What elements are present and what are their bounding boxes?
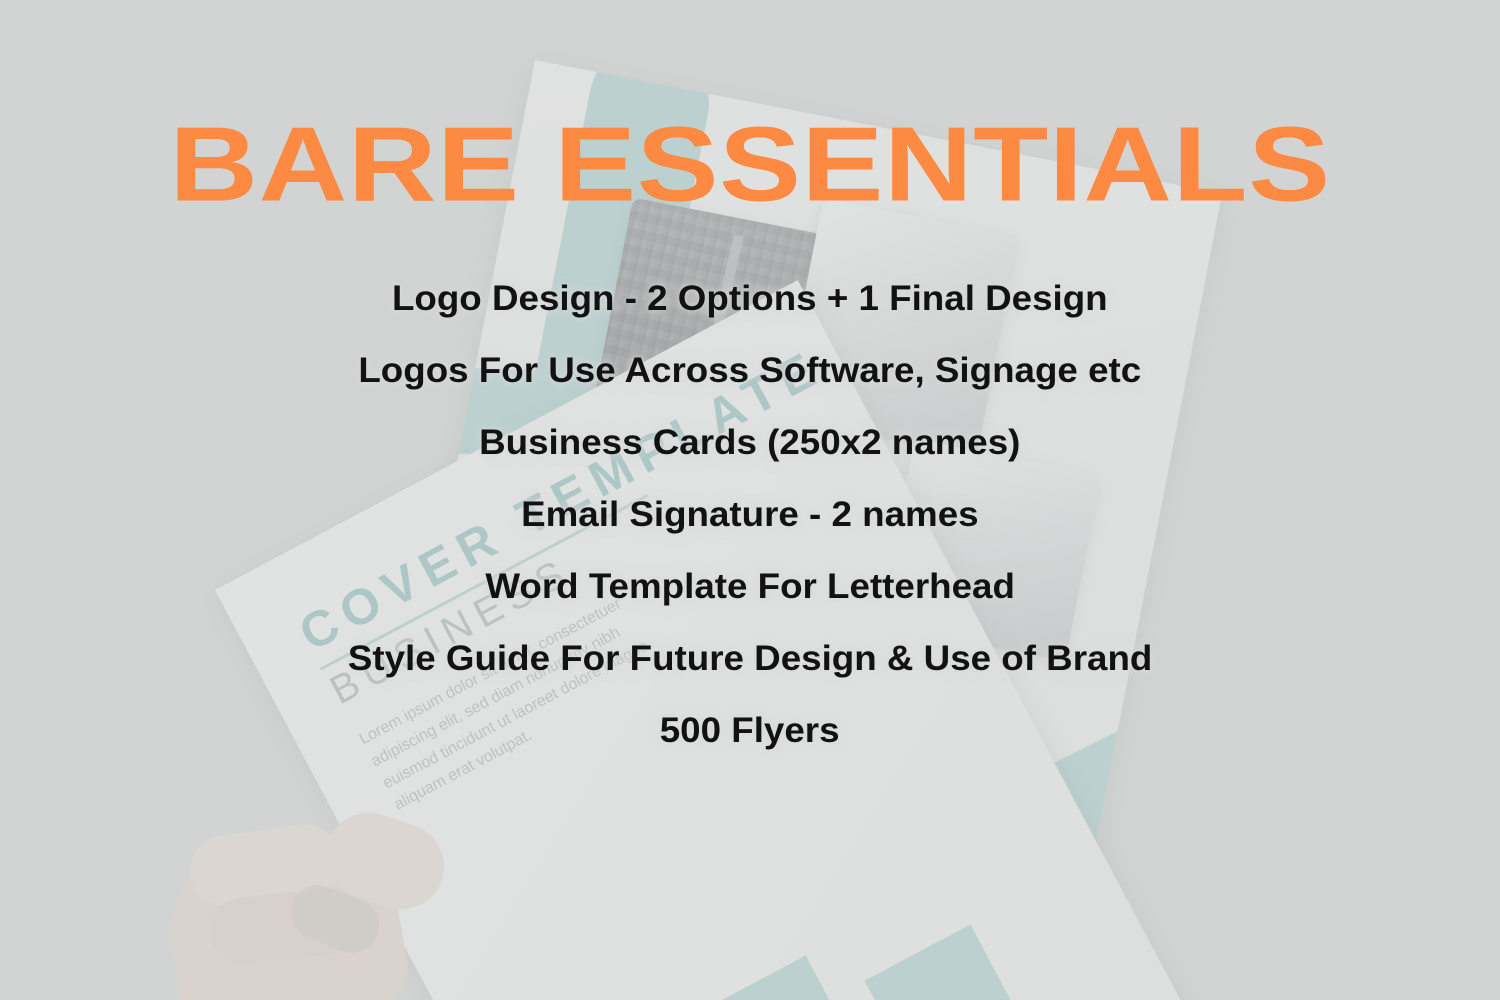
list-item: Business Cards (250x2 names): [479, 406, 1020, 478]
list-item: 500 Flyers: [660, 694, 840, 766]
list-item: Logo Design - 2 Options + 1 Final Design: [392, 262, 1108, 334]
page-title: BARE ESSENTIALS: [169, 112, 1330, 218]
list-item: Style Guide For Future Design & Use of B…: [348, 622, 1153, 694]
list-item: Email Signature - 2 names: [521, 478, 979, 550]
deliverables-list: Logo Design - 2 Options + 1 Final Design…: [0, 262, 1500, 766]
poster-canvas: YOUR LOGO YOUR SLOGAN COVER TEMPLATE BUS…: [0, 0, 1500, 1000]
poster-content: BARE ESSENTIALS Logo Design - 2 Options …: [0, 0, 1500, 1000]
list-item: Word Template For Letterhead: [485, 550, 1015, 622]
list-item: Logos For Use Across Software, Signage e…: [359, 334, 1142, 406]
